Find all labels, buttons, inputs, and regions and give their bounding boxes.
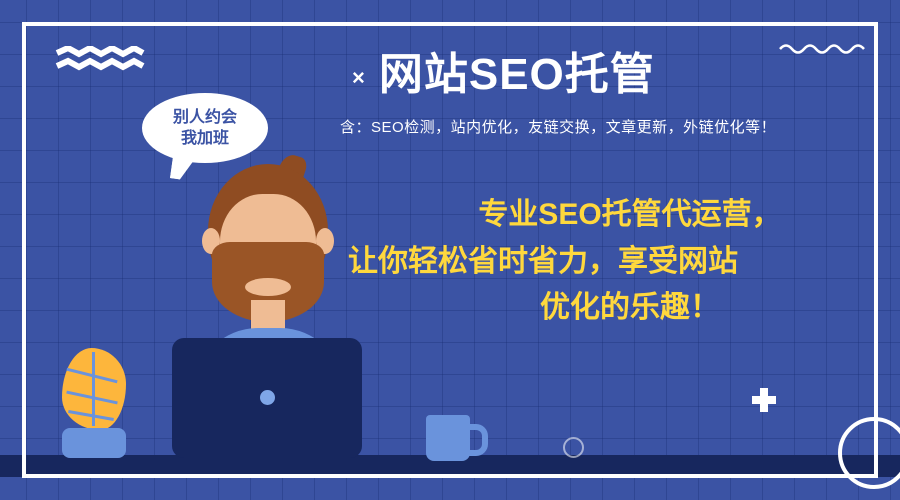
mouth <box>245 278 291 296</box>
slogan-line-3: 优化的乐趣！ <box>390 285 870 332</box>
seo-hosting-banner: 别人约会 我加班 × 网站SEO托管 含：SEO检测，站内优化，友链交换，文章更… <box>0 0 900 500</box>
wave-lines-icon <box>55 46 145 72</box>
mug-handle <box>464 424 488 456</box>
slogan-line-1: 专业SEO托管代运营， <box>390 192 870 239</box>
plant-pot <box>62 428 126 458</box>
slogan-block: 专业SEO托管代运营， 让你轻松省时省力，享受网站 优化的乐趣！ <box>390 192 870 332</box>
bullet-x-icon: × <box>352 67 365 89</box>
laptop-logo-dot <box>260 390 275 405</box>
speech-bubble-line-2: 我加班 <box>181 128 229 149</box>
speech-bubble: 别人约会 我加班 <box>142 93 268 163</box>
leaf-vein <box>68 410 114 421</box>
speech-bubble-line-1: 别人约会 <box>173 107 237 128</box>
slogan-line-2: 让你轻松省时省力，享受网站 <box>348 239 870 286</box>
page-title-row: × 网站SEO托管 <box>352 44 872 106</box>
plus-icon <box>752 388 776 412</box>
circle-outline-icon-corner <box>838 417 900 489</box>
potted-plant-icon <box>62 348 126 430</box>
circle-outline-icon-small <box>563 437 584 458</box>
page-subtitle: 含：SEO检测，站内优化，友链交换，文章更新，外链优化等！ <box>340 116 880 137</box>
page-title: 网站SEO托管 <box>379 53 655 97</box>
